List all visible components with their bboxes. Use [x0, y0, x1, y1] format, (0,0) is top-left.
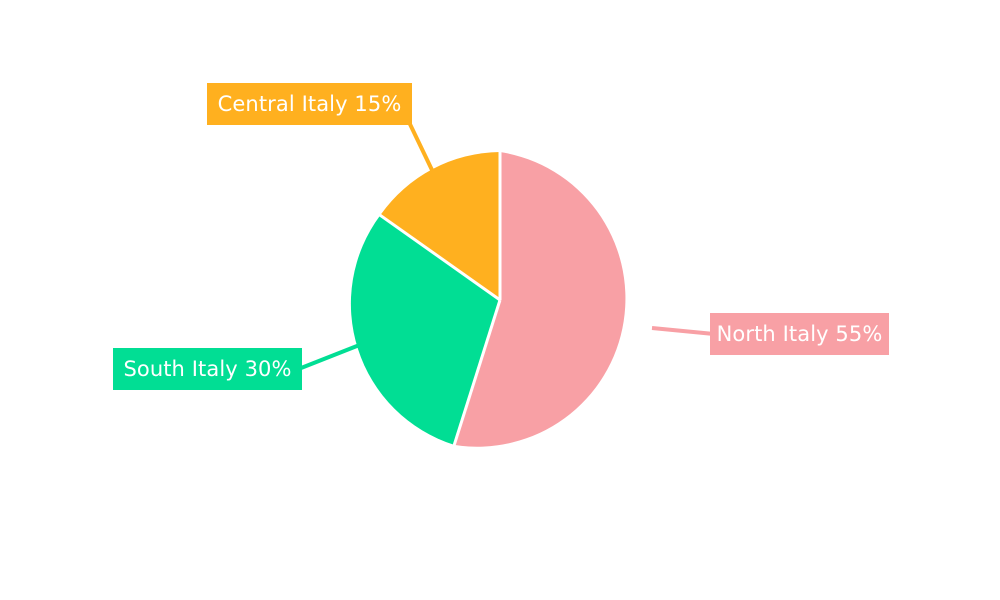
leader-line-central — [408, 120, 432, 170]
pie-chart-canvas — [0, 0, 1000, 600]
leader-line-south — [296, 344, 362, 370]
pie-label-north-italy[interactable]: North Italy 55% — [710, 313, 889, 355]
pie-label-central-italy-text: Central Italy 15% — [218, 94, 402, 115]
pie-label-central-italy[interactable]: Central Italy 15% — [207, 83, 412, 125]
pie-label-south-italy-text: South Italy 30% — [123, 359, 291, 380]
leader-line-north — [652, 328, 714, 334]
pie-label-south-italy[interactable]: South Italy 30% — [113, 348, 302, 390]
pie-label-north-italy-text: North Italy 55% — [717, 324, 883, 345]
pie-chart-figure: North Italy 55% South Italy 30% Central … — [0, 0, 1000, 600]
